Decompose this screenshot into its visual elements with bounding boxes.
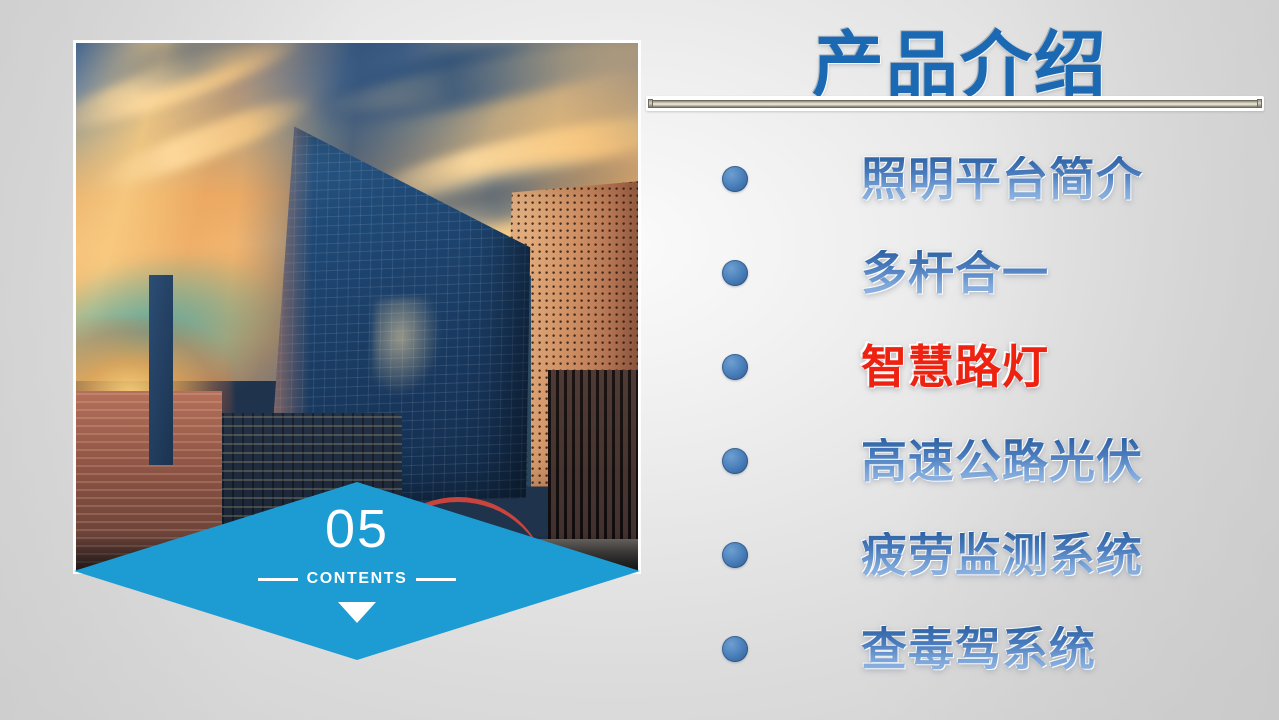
bullet-dot-icon bbox=[722, 448, 748, 474]
distant-spire-tower bbox=[149, 275, 173, 465]
agenda-item-2[interactable]: 多杆合一 bbox=[660, 226, 1260, 320]
agenda-item-4[interactable]: 高速公路光伏 bbox=[660, 414, 1260, 508]
glass-reflection bbox=[372, 296, 441, 397]
divider-cap-right bbox=[1257, 99, 1262, 108]
agenda-item-3[interactable]: 智慧路灯 bbox=[660, 320, 1260, 414]
divider-bar bbox=[649, 100, 1261, 108]
bullet-dot-icon bbox=[722, 166, 748, 192]
agenda-item-label-active: 智慧路灯 bbox=[861, 344, 1049, 390]
agenda-item-1[interactable]: 照明平台简介 bbox=[660, 132, 1260, 226]
divider-cap-left bbox=[648, 99, 653, 108]
presentation-slide: 05 CONTENTS 产品介绍 照明平台简介 多杆合一 智慧路灯 高速公路光 bbox=[0, 0, 1279, 720]
bullet-dot-icon bbox=[722, 542, 748, 568]
agenda-item-label: 查毒驾系统 bbox=[861, 626, 1096, 672]
title-divider bbox=[646, 96, 1264, 111]
bullet-dot-icon bbox=[722, 636, 748, 662]
bullet-dot-icon bbox=[722, 260, 748, 286]
bullet-dot-icon bbox=[722, 354, 748, 380]
agenda-item-6[interactable]: 查毒驾系统 bbox=[660, 602, 1260, 696]
agenda-item-label: 疲劳监测系统 bbox=[861, 532, 1143, 578]
agenda-list: 照明平台简介 多杆合一 智慧路灯 高速公路光伏 疲劳监测系统 查毒驾系统 bbox=[660, 132, 1260, 696]
agenda-item-label: 多杆合一 bbox=[861, 250, 1049, 296]
agenda-item-label: 照明平台简介 bbox=[861, 156, 1143, 202]
agenda-item-label: 高速公路光伏 bbox=[861, 438, 1143, 484]
agenda-item-5[interactable]: 疲劳监测系统 bbox=[660, 508, 1260, 602]
